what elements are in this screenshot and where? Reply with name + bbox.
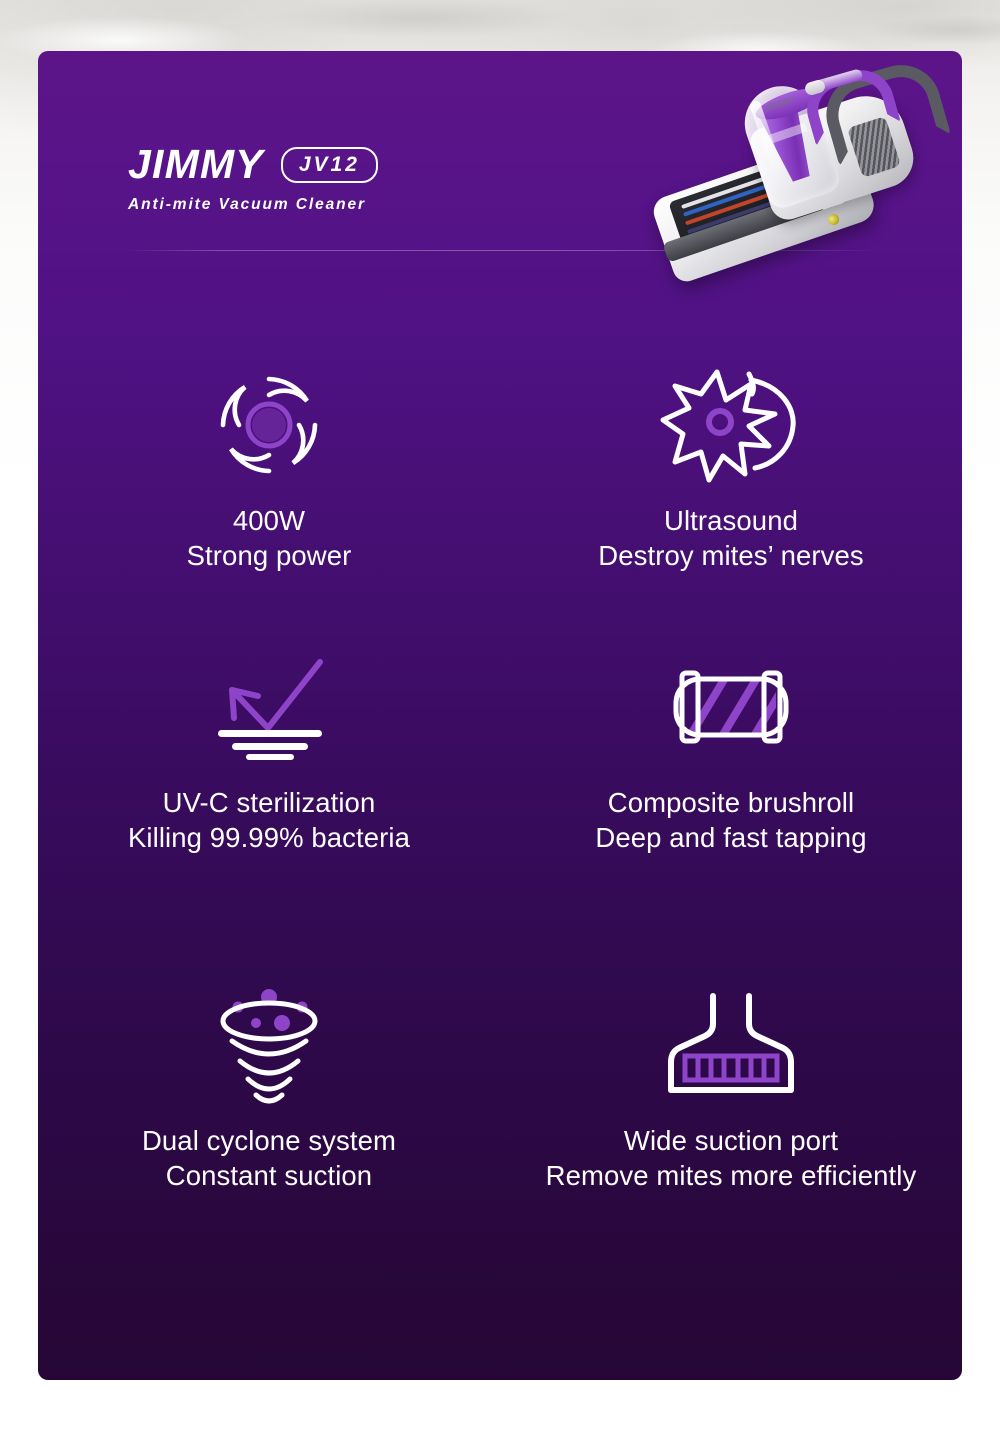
- feature-line-2: Constant suction: [142, 1158, 396, 1193]
- feature-caption: Composite brushroll Deep and fast tappin…: [595, 785, 866, 855]
- cyclone-fan-icon: [211, 361, 327, 489]
- brushroll-icon: [662, 643, 800, 771]
- feature-grid: 400W Strong power Ultrasound Destroy m: [38, 361, 962, 1193]
- feature-item-strong-power: 400W Strong power: [38, 361, 500, 643]
- feature-line-1: Ultrasound: [664, 505, 798, 536]
- tornado-dust-icon: [204, 981, 334, 1109]
- feature-item-wide-suction-port: Wide suction port Remove mites more effi…: [500, 981, 962, 1193]
- brand-block: JIMMY JV12 Anti-mite Vacuum Cleaner: [128, 144, 378, 214]
- feature-line-2: Destroy mites’ nerves: [598, 538, 863, 573]
- feature-caption: 400W Strong power: [187, 503, 352, 573]
- feature-line-1: Composite brushroll: [608, 787, 854, 818]
- feature-caption: Ultrasound Destroy mites’ nerves: [598, 503, 863, 573]
- feature-item-uvc: UV-C sterilization Killing 99.99% bacter…: [38, 643, 500, 981]
- model-badge: JV12: [281, 147, 378, 183]
- feature-caption: UV-C sterilization Killing 99.99% bacter…: [128, 785, 410, 855]
- feature-line-1: UV-C sterilization: [163, 787, 376, 818]
- uvc-light-reflection-icon: [202, 643, 336, 771]
- brand-tagline: Anti-mite Vacuum Cleaner: [128, 196, 378, 214]
- product-infographic-page: JIMMY JV12 Anti-mite Vacuum Cleaner: [0, 0, 1000, 1435]
- brand-row: JIMMY JV12: [128, 144, 378, 185]
- feature-line-1: Wide suction port: [624, 1125, 838, 1156]
- feature-item-dual-cyclone: Dual cyclone system Constant suction: [38, 981, 500, 1193]
- feature-line-2: Remove mites more efficiently: [546, 1158, 917, 1193]
- product-feature-card: JIMMY JV12 Anti-mite Vacuum Cleaner: [38, 51, 962, 1380]
- feature-line-2: Killing 99.99% bacteria: [128, 820, 410, 855]
- feature-caption: Wide suction port Remove mites more effi…: [546, 1123, 917, 1193]
- feature-line-1: Dual cyclone system: [142, 1125, 396, 1156]
- feature-item-ultrasound: Ultrasound Destroy mites’ nerves: [500, 361, 962, 643]
- feature-caption: Dual cyclone system Constant suction: [142, 1123, 396, 1193]
- feature-item-brushroll: Composite brushroll Deep and fast tappin…: [500, 643, 962, 981]
- wide-suction-port-icon: [663, 981, 799, 1109]
- feature-line-2: Strong power: [187, 538, 352, 573]
- feature-line-2: Deep and fast tapping: [595, 820, 866, 855]
- product-photo-vacuum-cleaner: JIMMY: [630, 59, 930, 294]
- feature-line-1: 400W: [233, 505, 305, 536]
- brand-name: JIMMY: [128, 144, 264, 185]
- ultrasound-mite-icon: [659, 361, 803, 489]
